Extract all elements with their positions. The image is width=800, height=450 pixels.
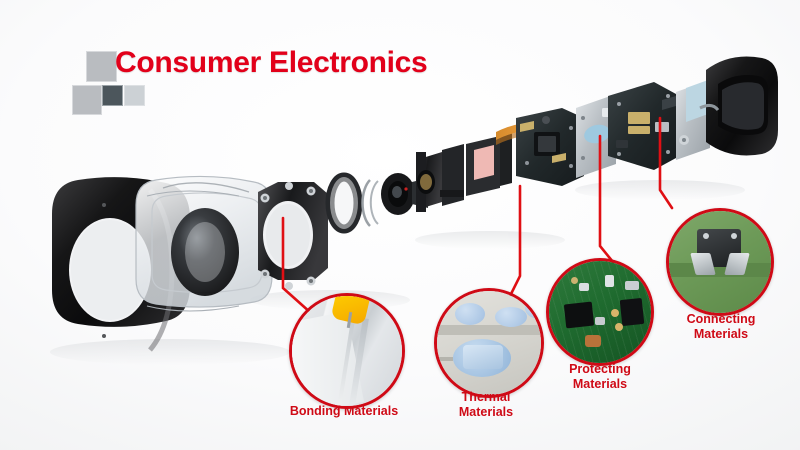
- part-sensor-board: [516, 108, 584, 186]
- part-lens-ring: [330, 177, 378, 229]
- conformal-coating-pcb-photo: [546, 258, 654, 366]
- callout-label-thermal: Thermal Materials: [418, 390, 554, 420]
- thermal-pads-photo: [434, 288, 544, 398]
- solder-joint-photo: [666, 208, 774, 316]
- part-rear-housing: [676, 57, 778, 161]
- callout-label-protecting: Protecting Materials: [540, 362, 660, 392]
- adhesive-dispenser-photo: [289, 293, 405, 409]
- part-lens-holder: [416, 144, 464, 212]
- part-mount-frame-front: [258, 182, 328, 290]
- part-main-board: [608, 82, 676, 170]
- part-ir-filter: [466, 133, 512, 196]
- part-transparent-housing: [136, 176, 272, 311]
- slide-canvas: Consumer Electronics: [0, 0, 800, 450]
- callout-label-bonding: Bonding Materials: [274, 404, 414, 419]
- callout-label-connecting: Connecting Materials: [660, 312, 782, 342]
